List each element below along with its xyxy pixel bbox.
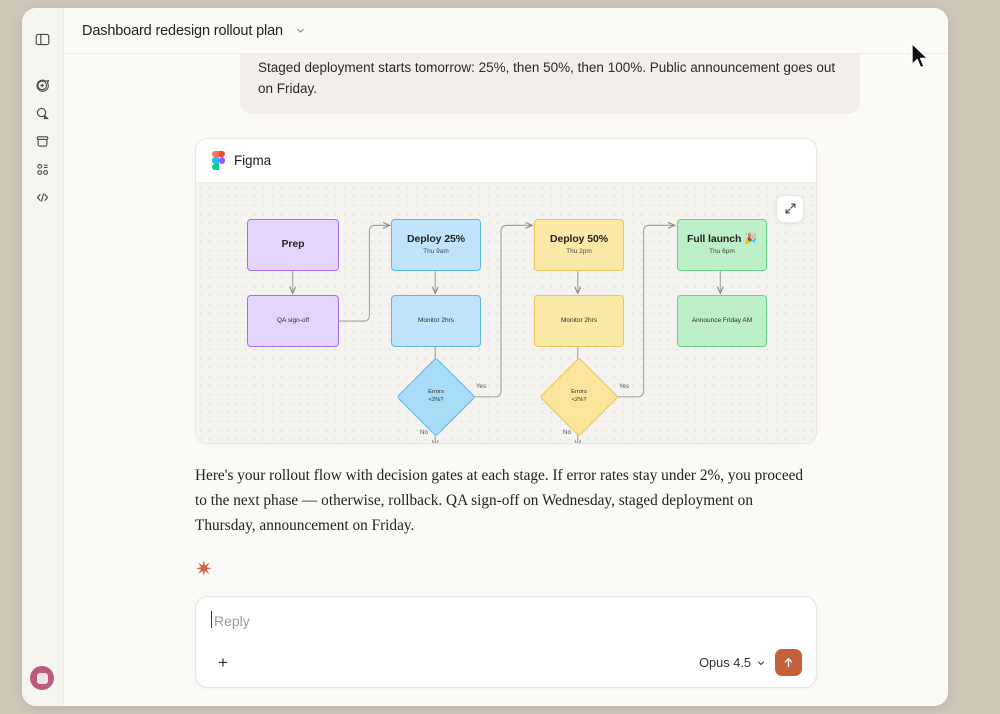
node-label: Monitor 2hrs: [561, 317, 597, 325]
node-label: Prep: [282, 238, 305, 251]
figma-card-header: Figma: [196, 139, 816, 183]
top-bar: Dashboard redesign rollout plan: [64, 8, 948, 54]
figma-canvas[interactable]: Prep QA sign-off Deploy 25% Thu 9am Moni…: [196, 183, 816, 444]
assistant-message: Here's your rollout flow with decision g…: [195, 464, 817, 539]
sidebar-toggle-icon[interactable]: [30, 26, 56, 52]
conversation-title[interactable]: Dashboard redesign rollout plan: [82, 23, 283, 39]
edge-label-no-1: No: [420, 429, 428, 436]
send-button[interactable]: [775, 649, 802, 676]
node-label: Full launch 🎉: [687, 233, 757, 246]
chevron-down-icon: [756, 658, 766, 668]
search-chats-icon[interactable]: [30, 100, 56, 126]
left-rail: [22, 8, 64, 706]
figma-embed-card: Figma: [195, 138, 817, 444]
composer[interactable]: Reply + Opus 4.5: [195, 596, 817, 688]
node-label: Deploy 50%: [550, 233, 608, 246]
edge-label-no-2: No: [563, 429, 571, 436]
node-sublabel: <2%?: [572, 397, 587, 405]
node-sublabel: Thu 6pm: [709, 248, 735, 256]
node-deploy-25[interactable]: Deploy 25% Thu 9am: [391, 219, 481, 271]
node-label: Announce Friday AM: [692, 317, 752, 325]
avatar-glyph: [37, 673, 48, 684]
arrow-up-icon: [782, 656, 795, 669]
node-sublabel: Thu 9am: [423, 248, 449, 256]
code-icon[interactable]: [30, 184, 56, 210]
user-avatar[interactable]: [30, 666, 54, 690]
node-announce[interactable]: Announce Friday AM: [677, 295, 767, 347]
node-errors-gate-1[interactable]: Errors <2%?: [408, 369, 464, 425]
app-window: Dashboard redesign rollout plan Staged d…: [22, 8, 948, 706]
diamond-label: Errors <2%?: [551, 369, 607, 425]
node-deploy-50[interactable]: Deploy 50% Thu 2pm: [534, 219, 624, 271]
edge-label-yes-1: Yes: [476, 383, 486, 390]
node-label: Errors: [571, 389, 587, 397]
node-label: Deploy 25%: [407, 233, 465, 246]
node-sublabel: <2%?: [429, 397, 444, 405]
node-sublabel: Thu 2pm: [566, 248, 592, 256]
node-qa-signoff[interactable]: QA sign-off: [247, 295, 339, 347]
reply-input[interactable]: Reply: [212, 613, 802, 629]
new-chat-icon[interactable]: [30, 72, 56, 98]
user-message-bubble: Staged deployment starts tomorrow: 25%, …: [240, 54, 860, 114]
node-monitor-1[interactable]: Monitor 2hrs: [391, 295, 481, 347]
figma-logo-icon: [212, 151, 225, 170]
diamond-label: Errors <2%?: [408, 369, 464, 425]
node-full-launch[interactable]: Full launch 🎉 Thu 6pm: [677, 219, 767, 271]
node-errors-gate-2[interactable]: Errors <2%?: [551, 369, 607, 425]
node-prep[interactable]: Prep: [247, 219, 339, 271]
plus-icon[interactable]: +: [212, 652, 234, 674]
model-label: Opus 4.5: [699, 655, 751, 670]
sparkle-icon: ✷: [195, 559, 817, 580]
archive-icon[interactable]: [30, 128, 56, 154]
conversation-scroll[interactable]: Staged deployment starts tomorrow: 25%, …: [64, 54, 948, 706]
figma-card-title: Figma: [234, 153, 271, 168]
apps-grid-icon[interactable]: [30, 156, 56, 182]
node-label: Monitor 2hrs: [418, 317, 454, 325]
composer-right-controls: Opus 4.5: [699, 649, 802, 676]
expand-diagonal-icon[interactable]: [776, 195, 804, 223]
composer-wrapper: Reply + Opus 4.5: [195, 596, 817, 706]
main-column: Dashboard redesign rollout plan Staged d…: [64, 8, 948, 706]
node-label: Errors: [428, 389, 444, 397]
node-monitor-2[interactable]: Monitor 2hrs: [534, 295, 624, 347]
model-selector[interactable]: Opus 4.5: [699, 655, 766, 670]
chevron-down-icon[interactable]: [295, 25, 306, 36]
edge-label-yes-2: Yes: [619, 383, 629, 390]
node-label: QA sign-off: [277, 317, 309, 325]
composer-controls: + Opus 4.5: [212, 649, 802, 676]
